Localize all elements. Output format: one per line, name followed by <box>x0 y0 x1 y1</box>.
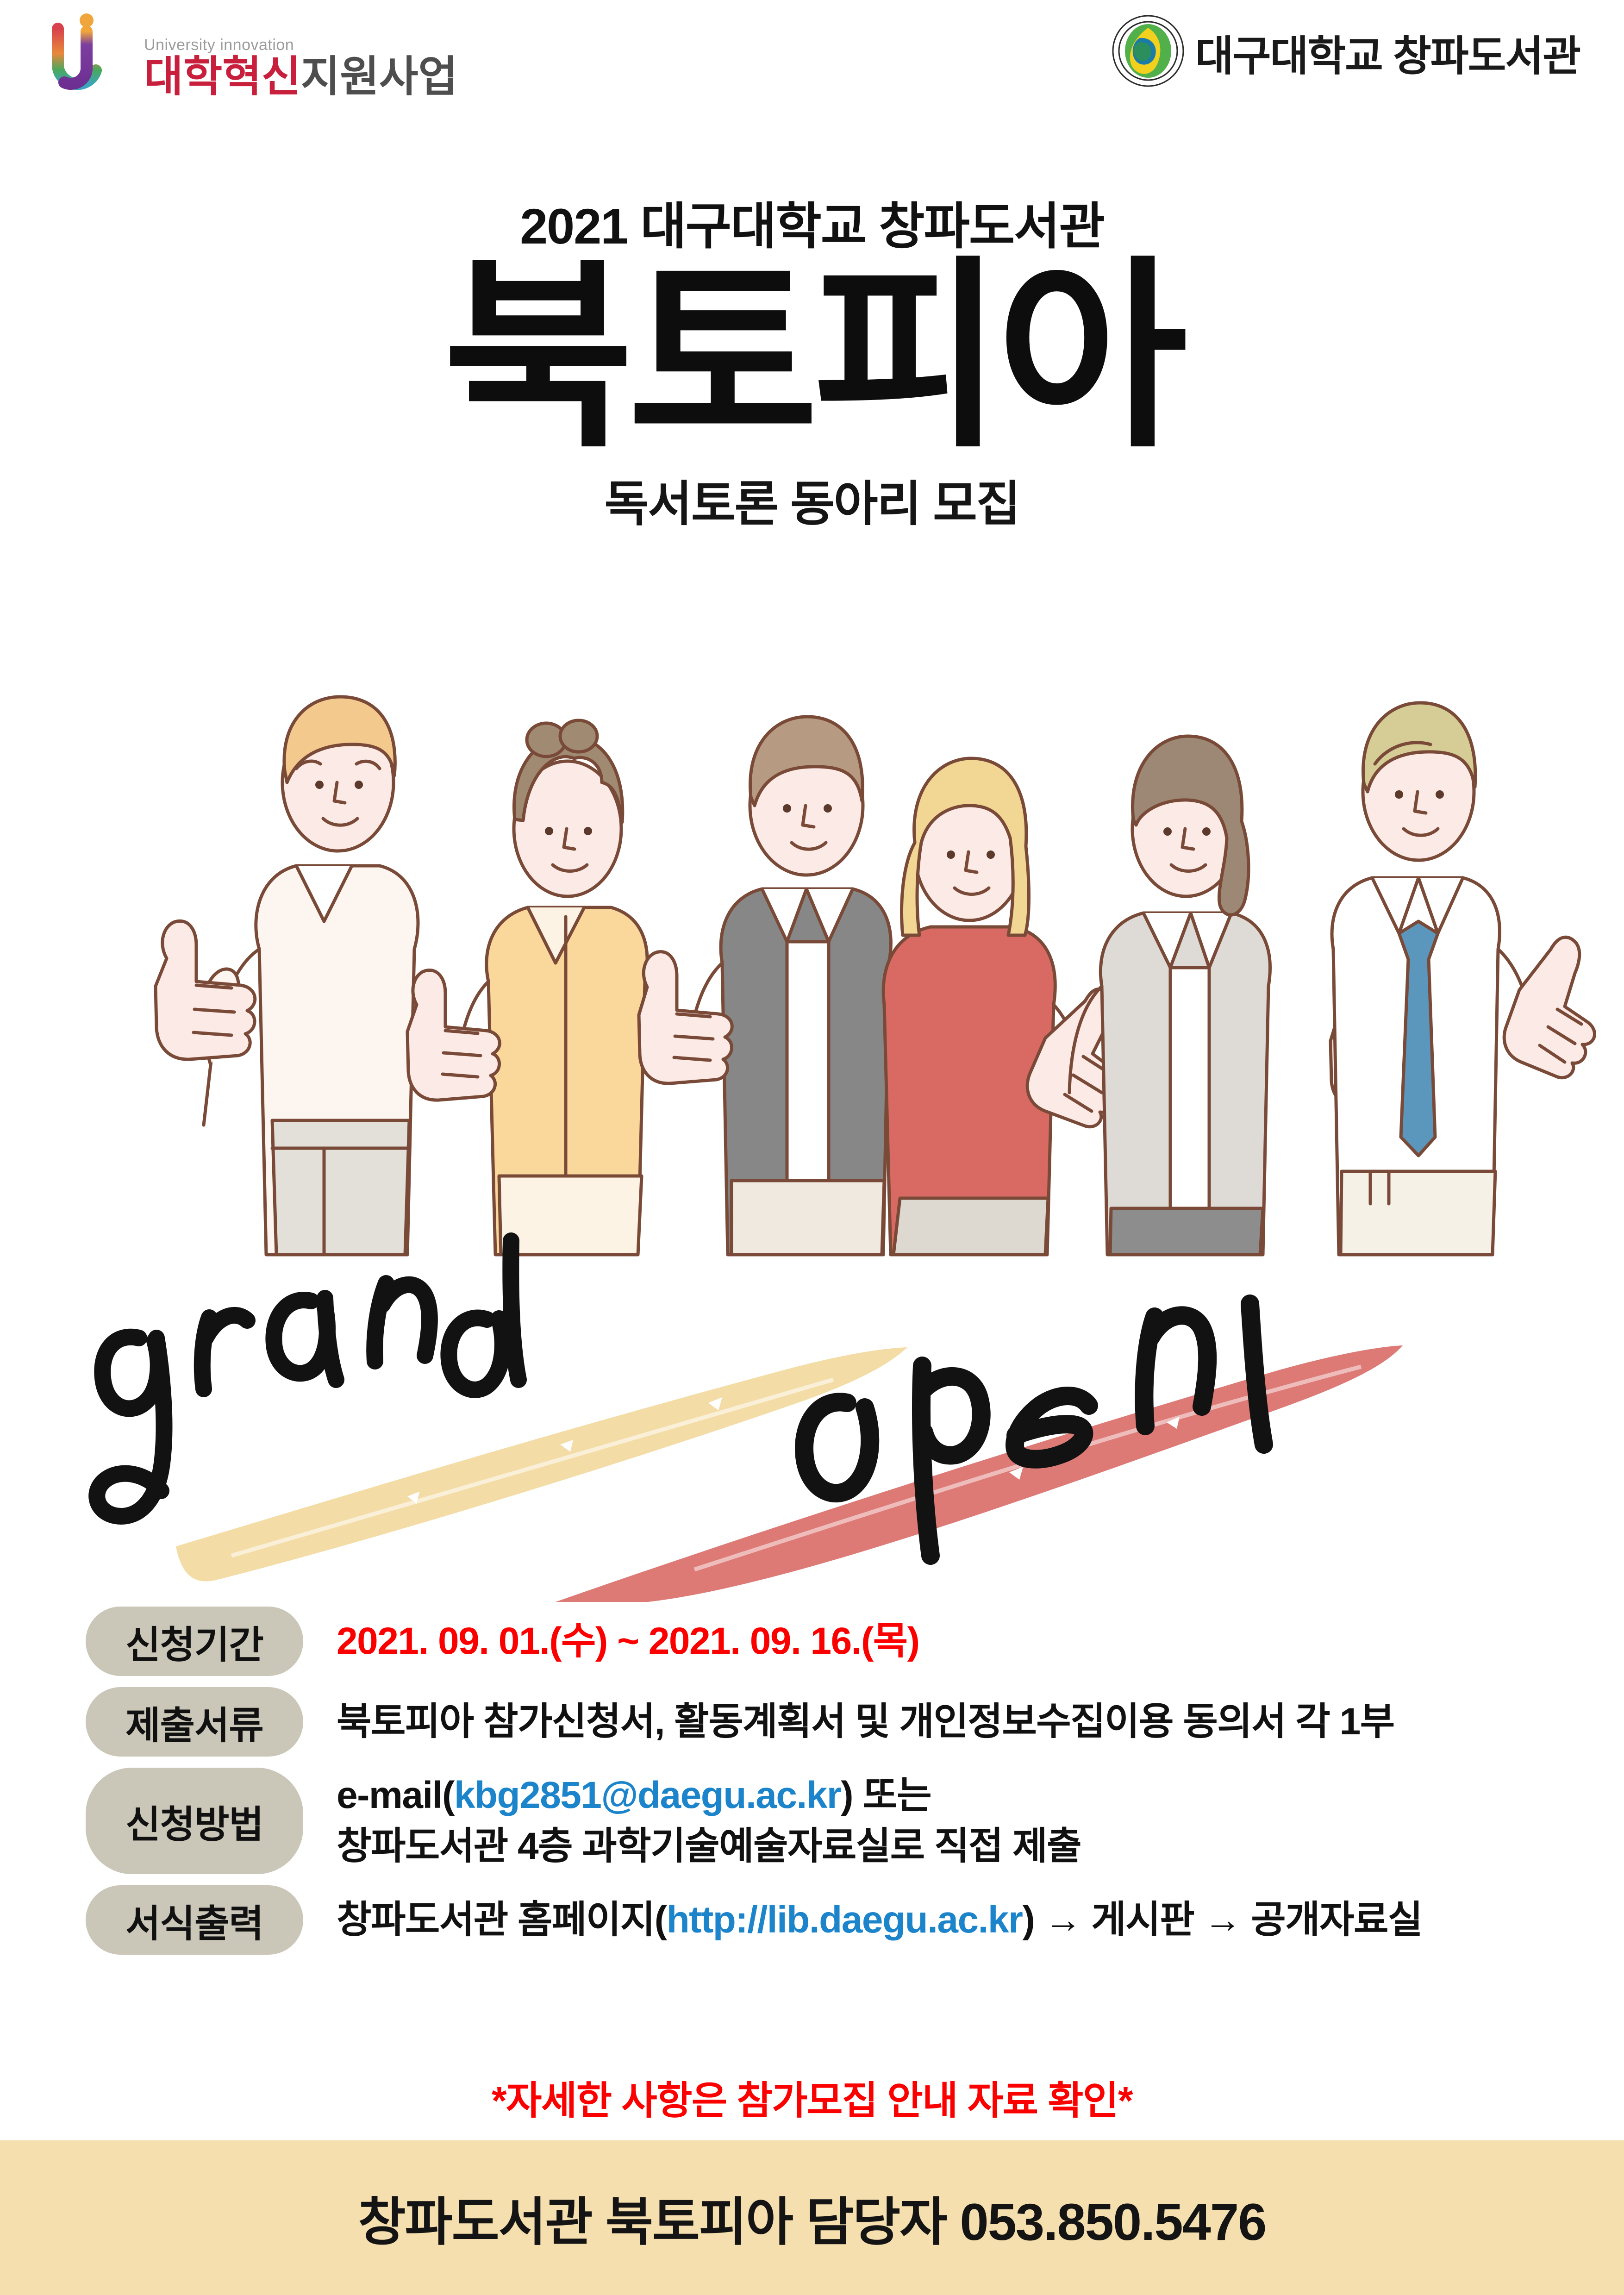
ui-logo-korean: 대학혁신지원사업 <box>144 56 457 98</box>
uj-monogram-icon <box>44 9 137 102</box>
in-person-submission-text: 창파도서관 4층 과학기술예술자료실로 직접 제출 <box>337 1825 1081 1867</box>
homepage-prefix-text: 창파도서관 홈페이지( <box>337 1899 667 1941</box>
person-2-bun-woman-yellow-shirt <box>407 720 647 1255</box>
page-title: 북토피아 <box>0 261 1624 454</box>
footer-contact-text: 창파도서관 북토피아 담당자 053.850.5476 <box>358 2180 1266 2255</box>
value-required-documents: 북토피아 참가신청서, 활동계획서 및 개인정보수집이용 동의서 각 1부 <box>303 1687 1394 1757</box>
label-application-method: 신청방법 <box>86 1768 303 1874</box>
footer-bar: 창파도서관 북토피아 담당자 053.850.5476 <box>0 2140 1624 2295</box>
info-row-form-download: 서식출력 창파도서관 홈페이지(http://lib.daegu.ac.kr) … <box>0 1885 1624 1955</box>
homepage-path-text: ) → 게시판 → 공개자료실 <box>1022 1899 1422 1941</box>
ui-logo-korean-gray: 지원사업 <box>301 53 458 100</box>
value-application-period: 2021. 09. 01.(수) ~ 2021. 09. 16.(목) <box>303 1607 919 1676</box>
person-1-blonde-man-white-shirt <box>156 697 418 1255</box>
ui-logo-korean-red: 대학혁신 <box>144 53 301 100</box>
info-row-application-method: 신청방법 e-mail(kbg2851@daegu.ac.kr) 또는 창파도서… <box>0 1768 1624 1874</box>
info-row-application-period: 신청기간 2021. 09. 01.(수) ~ 2021. 09. 16.(목) <box>0 1607 1624 1676</box>
info-row-required-documents: 제출서류 북토피아 참가신청서, 활동계획서 및 개인정보수집이용 동의서 각 … <box>0 1687 1624 1757</box>
university-innovation-wordmark: University innovation 대학혁신지원사업 <box>144 37 457 102</box>
university-innovation-logo: University innovation 대학혁신지원사업 <box>44 9 457 102</box>
library-logo: 대구대학교 창파도서관 <box>1111 14 1580 90</box>
detail-note: *자세한 사항은 참가모집 안내 자료 확인* <box>0 2070 1624 2126</box>
label-required-documents: 제출서류 <box>86 1687 303 1757</box>
email-prefix-text: e-mail( <box>337 1774 454 1816</box>
page-subtitle: 독서토론 동아리 모집 <box>0 464 1624 534</box>
ui-logo-english: University innovation <box>144 37 457 53</box>
person-6-man-blue-tie <box>1332 703 1594 1255</box>
headline-block: 2021 대구대학교 창파도서관 북토피아 독서토론 동아리 모집 <box>0 199 1624 534</box>
required-documents-text: 북토피아 참가신청서, 활동계획서 및 개인정보수집이용 동의서 각 1부 <box>337 1701 1394 1743</box>
application-period-dates: 2021. 09. 01.(수) ~ 2021. 09. 16.(목) <box>337 1620 919 1662</box>
library-name: 대구대학교 창파도서관 <box>1195 22 1580 82</box>
label-application-period: 신청기간 <box>86 1607 303 1676</box>
application-method-line-1: e-mail(kbg2851@daegu.ac.kr) 또는 <box>337 1770 1081 1821</box>
logo-bar: University innovation 대학혁신지원사업 대구대학교 창파도… <box>0 0 1624 134</box>
application-method-line-2: 창파도서관 4층 과학기술예술자료실로 직접 제출 <box>337 1821 1081 1872</box>
grand-open-artwork <box>0 1185 1624 1602</box>
info-section: 신청기간 2021. 09. 01.(수) ~ 2021. 09. 16.(목)… <box>0 1607 1624 1966</box>
email-suffix-text: ) 또는 <box>841 1774 931 1816</box>
person-3-man-gray-jacket <box>639 717 891 1255</box>
library-homepage-link[interactable]: http://lib.daegu.ac.kr <box>667 1899 1023 1941</box>
email-address-link[interactable]: kbg2851@daegu.ac.kr <box>454 1774 841 1816</box>
daegu-university-seal-icon <box>1111 14 1185 90</box>
value-application-method: e-mail(kbg2851@daegu.ac.kr) 또는 창파도서관 4층 … <box>303 1768 1081 1874</box>
value-form-download: 창파도서관 홈페이지(http://lib.daegu.ac.kr) → 게시판… <box>303 1885 1422 1955</box>
label-form-download: 서식출력 <box>86 1885 303 1955</box>
people-illustration <box>0 597 1624 1273</box>
